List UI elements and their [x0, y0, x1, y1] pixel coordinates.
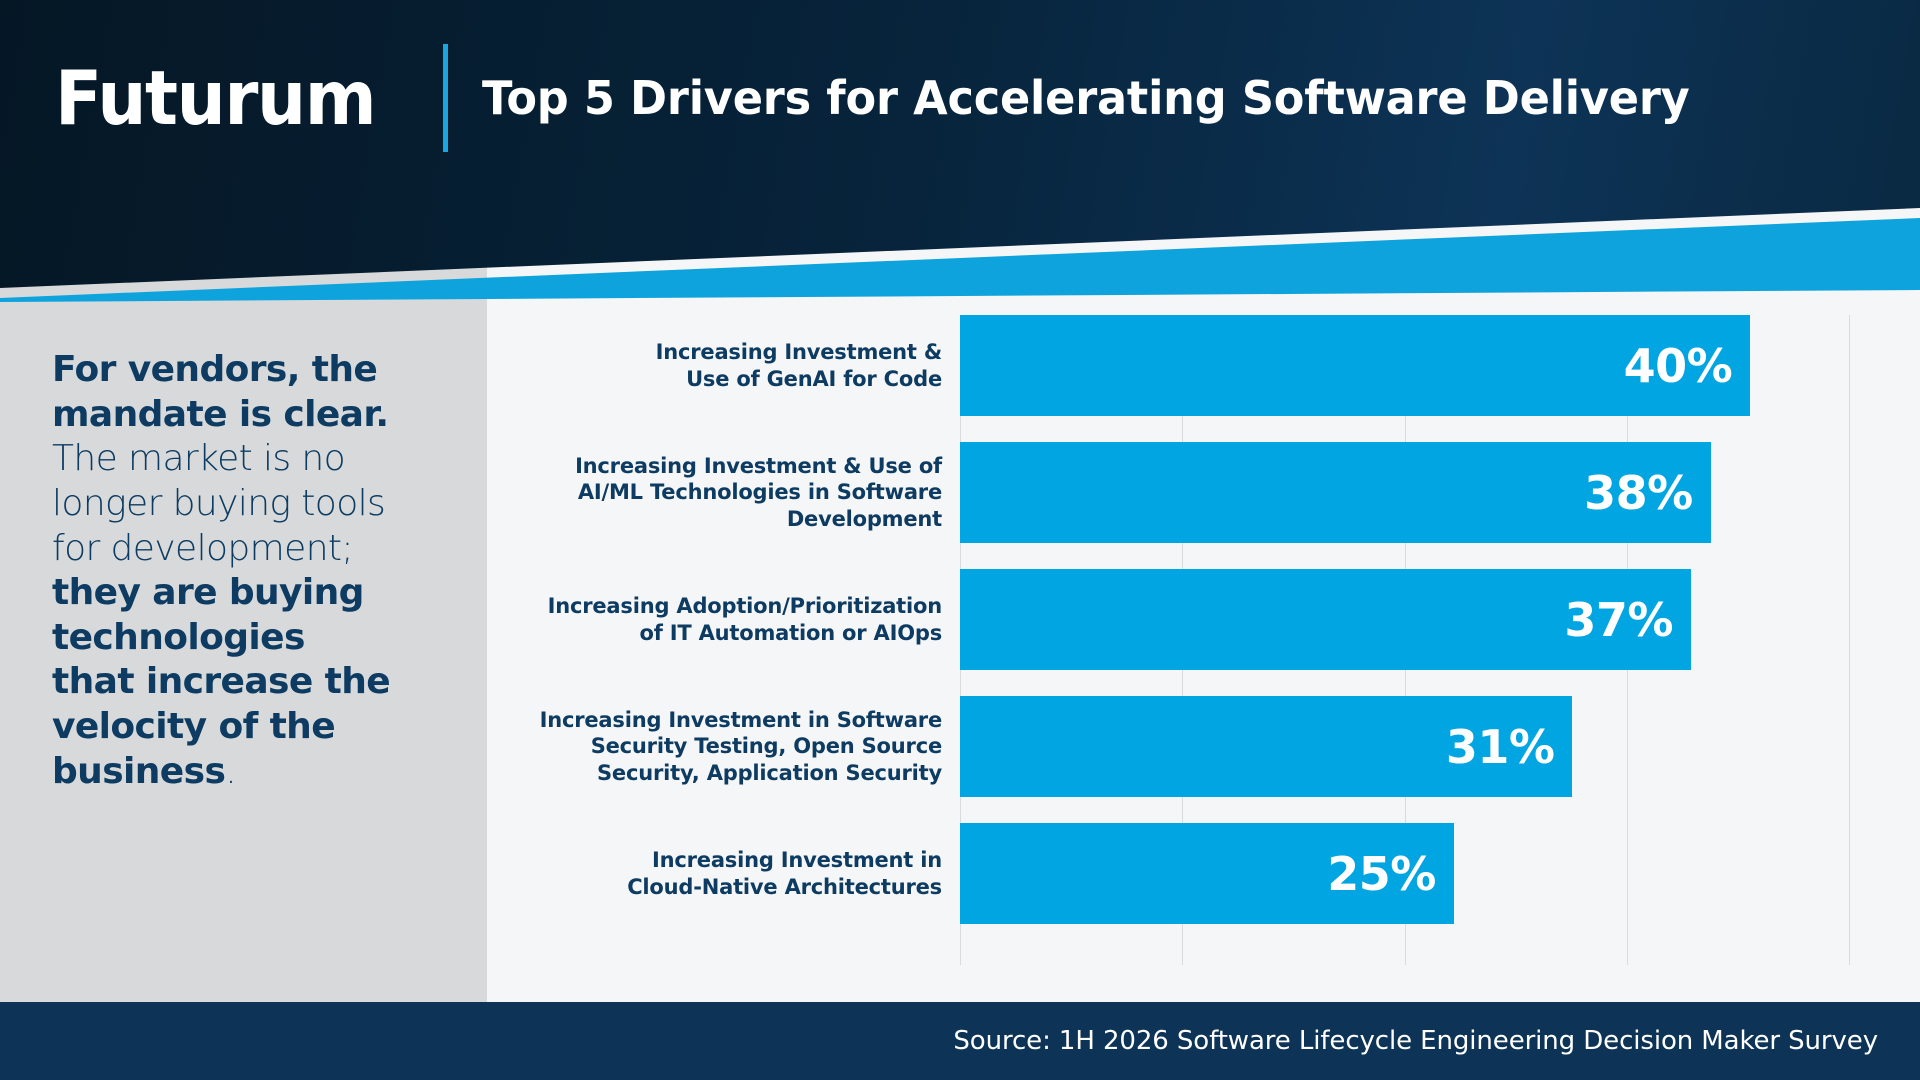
quote-middle: The market is no longer buying tools for… [52, 438, 385, 568]
bar-row: Increasing Investment in SoftwareSecurit… [960, 696, 1850, 797]
footer-bar: Source: 1H 2026 Software Lifecycle Engin… [0, 1002, 1920, 1080]
bar-row: Increasing Adoption/Prioritizationof IT … [960, 569, 1850, 670]
bar: 31% [960, 696, 1572, 797]
bar-row: Increasing Investment & Use ofAI/ML Tech… [960, 442, 1850, 543]
sidebar-quote: For vendors, the mandate is clear. The m… [52, 348, 397, 794]
infographic-root: Futurum Top 5 Drivers for Accelerating S… [0, 0, 1920, 1080]
bar-value-label: 38% [1584, 470, 1693, 516]
bar-rows: Increasing Investment &Use of GenAI for … [960, 315, 1850, 965]
bar-category-label: Increasing Adoption/Prioritizationof IT … [522, 593, 942, 646]
quote-lead: For vendors, the mandate is clear. [52, 349, 388, 435]
bar-category-label: Increasing Investment & Use ofAI/ML Tech… [522, 453, 942, 532]
page-title: Top 5 Drivers for Accelerating Software … [482, 73, 1690, 124]
quote-period: . [225, 751, 236, 792]
bar: 25% [960, 823, 1454, 924]
bar-value-label: 40% [1624, 343, 1733, 389]
bar-row: Increasing Investment inCloud-Native Arc… [960, 823, 1850, 924]
bar-category-label: Increasing Investment &Use of GenAI for … [522, 339, 942, 392]
source-note: Source: 1H 2026 Software Lifecycle Engin… [953, 1026, 1878, 1056]
quote-emphasis: they are buying technologies that increa… [52, 572, 390, 792]
bar-value-label: 25% [1327, 851, 1436, 897]
futurum-logo: Futurum [55, 61, 375, 136]
logo-divider [443, 44, 448, 152]
bar-category-label: Increasing Investment in SoftwareSecurit… [522, 707, 942, 786]
bar: 40% [960, 315, 1750, 416]
bar-value-label: 31% [1446, 724, 1555, 770]
brand-lockup: Futurum Top 5 Drivers for Accelerating S… [55, 44, 1727, 152]
bar-chart: Increasing Investment &Use of GenAI for … [487, 300, 1920, 1015]
bar-row: Increasing Investment &Use of GenAI for … [960, 315, 1850, 416]
bar-value-label: 37% [1564, 597, 1673, 643]
bar: 37% [960, 569, 1691, 670]
chart-plot-area: Increasing Investment &Use of GenAI for … [960, 315, 1850, 965]
bar: 38% [960, 442, 1711, 543]
bar-category-label: Increasing Investment inCloud-Native Arc… [522, 847, 942, 900]
